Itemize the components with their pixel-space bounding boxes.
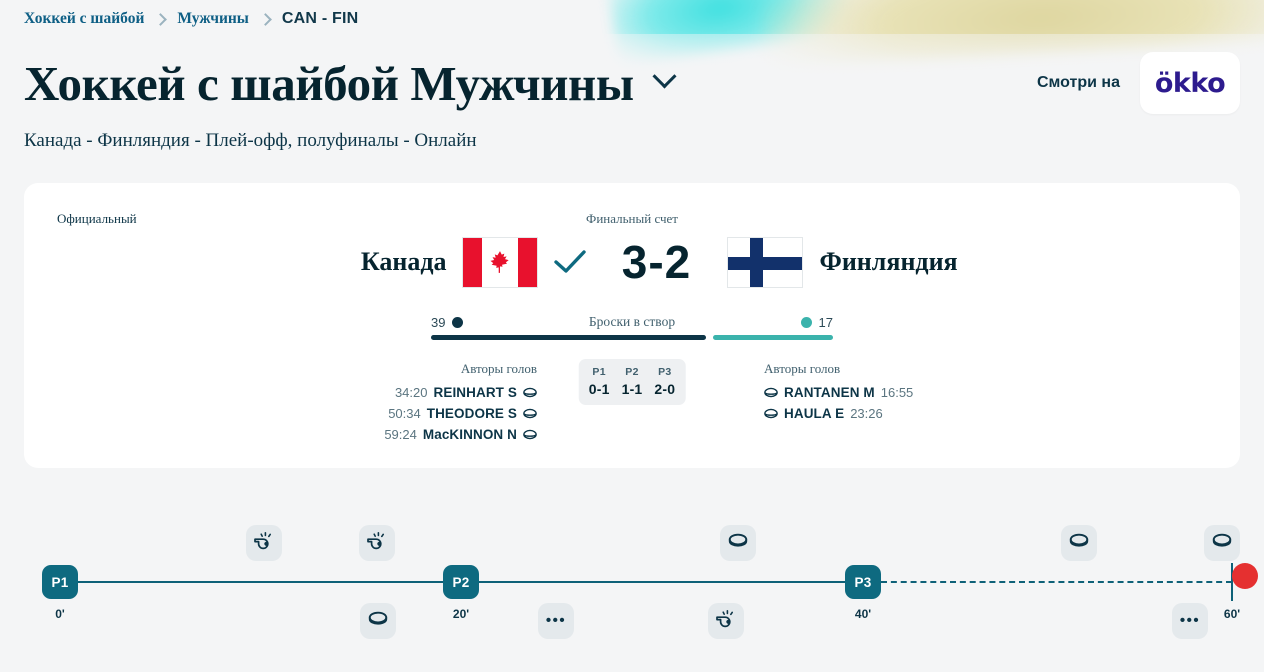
home-shots-group: 39	[431, 315, 463, 330]
title-group: Хоккей с шайбой Мужчины	[24, 59, 673, 108]
timeline-segment	[60, 581, 443, 583]
page-title: Хоккей с шайбой Мужчины	[24, 59, 634, 108]
away-shots-group: 17	[801, 315, 833, 330]
goal-time: 50:34	[388, 406, 421, 421]
goal-entry: 34:20 REINHART S	[384, 385, 537, 400]
breadcrumb: Хоккей с шайбой Мужчины CAN - FIN	[24, 0, 1240, 28]
timeline-event-whistle[interactable]	[246, 525, 282, 561]
score-row: Канада 3-2 Финляндия	[24, 235, 1240, 289]
puck-icon	[523, 387, 537, 398]
breadcrumb-item-sport[interactable]: Хоккей с шайбой	[24, 10, 144, 28]
away-score: 2	[665, 236, 692, 288]
puck-icon	[1212, 533, 1232, 553]
watch-on-group: Смотри на ökko	[1037, 52, 1240, 114]
timeline-event-more[interactable]: •••	[1172, 603, 1208, 639]
goal-player: RANTANEN M	[784, 385, 875, 400]
title-row: Хоккей с шайбой Мужчины Смотри на ökko	[24, 52, 1240, 114]
period-score: 1-1	[622, 381, 643, 397]
timeline-period-marker-p1[interactable]: P1	[42, 565, 78, 599]
finland-flag-icon	[727, 237, 803, 288]
final-score-label: Финальный счет	[586, 211, 678, 227]
period-item: P2 1-1	[622, 366, 643, 397]
whistle-icon	[715, 609, 737, 634]
period-item: P1 0-1	[589, 366, 610, 397]
winner-check-icon	[553, 247, 587, 277]
timeline-event-whistle[interactable]	[359, 525, 395, 561]
puck-icon	[764, 408, 778, 419]
period-score: 0-1	[589, 381, 610, 397]
home-shots-value: 39	[431, 315, 445, 330]
puck-icon	[728, 533, 748, 553]
goal-entry: 59:24 MacKINNON N	[384, 427, 537, 442]
breadcrumb-item-match: CAN - FIN	[282, 10, 358, 28]
goal-player: THEODORE S	[427, 406, 517, 421]
shots-header: 39 Броски в створ 17	[431, 314, 833, 330]
timeline-segment-pending	[881, 581, 1232, 583]
timeline-event-puck[interactable]	[720, 525, 756, 561]
home-goal-scorers: Авторы голов 34:20 REINHART S 50:34 THEO…	[384, 361, 537, 448]
goal-player: MacKINNON N	[423, 427, 517, 442]
home-score: 3	[622, 236, 649, 288]
timeline-time-label: 20'	[453, 607, 469, 621]
timeline-event-puck[interactable]	[360, 603, 396, 639]
goal-time: 34:20	[395, 385, 428, 400]
scorecard: Официальный Финальный счет Канада 3-2	[24, 183, 1240, 468]
home-shots-bar	[431, 335, 706, 340]
period-label: P3	[654, 366, 675, 378]
period-scores: P1 0-1 P2 1-1 P3 2-0	[579, 359, 686, 405]
away-goal-scorers: Авторы голов RANTANEN M 16:55 HAULA E 23…	[764, 361, 913, 427]
goal-time: 23:26	[850, 406, 883, 421]
home-color-dot	[452, 317, 463, 328]
timeline-event-puck[interactable]	[1061, 525, 1097, 561]
breadcrumb-item-category[interactable]: Мужчины	[177, 10, 249, 28]
away-team-name: Финляндия	[803, 247, 1003, 277]
timeline-event-puck[interactable]	[1204, 525, 1240, 561]
match-timeline: P10'P220'P340'60'••••••	[24, 505, 1240, 665]
okko-partner-button[interactable]: ökko	[1140, 52, 1240, 114]
shots-bar-chart	[431, 335, 833, 340]
goal-player: REINHART S	[433, 385, 517, 400]
goal-entry: RANTANEN M 16:55	[764, 385, 913, 400]
timeline-time-label: 40'	[855, 607, 871, 621]
goal-entry: 50:34 THEODORE S	[384, 406, 537, 421]
puck-icon	[764, 387, 778, 398]
match-subtitle: Канада - Финляндия - Плей-офф, полуфинал…	[24, 130, 1240, 152]
puck-icon	[523, 429, 537, 440]
timeline-period-marker-p3[interactable]: P3	[845, 565, 881, 599]
goal-time: 59:24	[384, 427, 417, 442]
puck-icon	[368, 611, 388, 631]
match-status-label: Официальный	[57, 211, 137, 227]
away-shots-bar	[713, 335, 833, 340]
chevron-right-icon	[259, 13, 272, 26]
home-goals-header: Авторы голов	[384, 361, 537, 377]
timeline-time-label: 60'	[1224, 607, 1240, 621]
timeline-time-label: 0'	[55, 607, 65, 621]
away-goals-header: Авторы голов	[764, 361, 913, 377]
more-icon: •••	[546, 612, 566, 630]
maple-leaf-icon	[487, 249, 513, 275]
timeline-segment	[479, 581, 845, 583]
goal-player: HAULA E	[784, 406, 844, 421]
away-shots-value: 17	[819, 315, 833, 330]
goal-entry: HAULA E 23:26	[764, 406, 913, 421]
whistle-icon	[253, 531, 275, 556]
period-item: P3 2-0	[654, 366, 675, 397]
puck-icon	[523, 408, 537, 419]
period-label: P1	[589, 366, 610, 378]
timeline-event-whistle[interactable]	[708, 603, 744, 639]
home-team-name: Канада	[262, 247, 462, 277]
timeline-period-marker-p2[interactable]: P2	[443, 565, 479, 599]
period-label: P2	[622, 366, 643, 378]
goal-time: 16:55	[881, 385, 914, 400]
chevron-right-icon	[155, 13, 168, 26]
shots-on-goal: 39 Броски в створ 17	[431, 314, 833, 340]
score-separator: -	[648, 236, 664, 288]
period-score: 2-0	[654, 381, 675, 397]
score-display: 3-2	[591, 235, 723, 289]
chevron-down-icon[interactable]	[652, 64, 676, 88]
timeline-end-marker	[1232, 563, 1258, 589]
page-container: Хоккей с шайбой Мужчины CAN - FIN Хоккей…	[0, 0, 1264, 468]
timeline-event-more[interactable]: •••	[538, 603, 574, 639]
watch-on-label: Смотри на	[1037, 74, 1120, 92]
okko-logo: ökko	[1155, 68, 1225, 99]
shots-label: Броски в створ	[589, 314, 675, 330]
away-color-dot	[801, 317, 812, 328]
whistle-icon	[366, 531, 388, 556]
canada-flag-icon	[462, 237, 538, 288]
puck-icon	[1069, 533, 1089, 553]
more-icon: •••	[1180, 612, 1200, 630]
